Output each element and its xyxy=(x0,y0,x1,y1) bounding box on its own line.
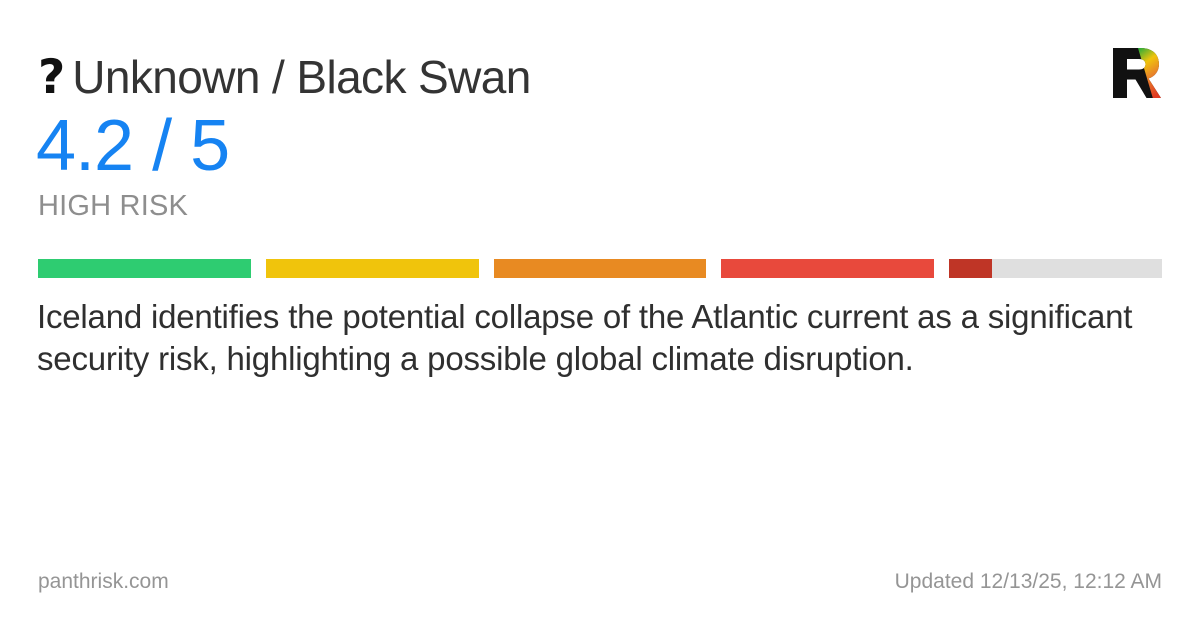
meter-segment-4 xyxy=(721,259,934,278)
title-line: ? Unknown / Black Swan xyxy=(38,46,1162,108)
risk-description: Iceland identifies the potential collaps… xyxy=(37,296,1147,380)
meter-segment-2 xyxy=(266,259,479,278)
meter-segment-fill xyxy=(494,259,707,278)
risk-level-label: HIGH RISK xyxy=(38,192,188,221)
page-title: Unknown / Black Swan xyxy=(72,53,530,101)
meter-segment-fill xyxy=(721,259,934,278)
meter-segment-1 xyxy=(38,259,251,278)
question-mark-icon: ? xyxy=(38,54,64,101)
logo-r-glyph xyxy=(1108,44,1164,102)
meter-segment-5 xyxy=(949,259,1162,278)
meter-segment-3 xyxy=(494,259,707,278)
meter-segment-fill xyxy=(949,259,992,278)
site-domain: panthrisk.com xyxy=(38,571,169,592)
meter-segment-fill xyxy=(38,259,251,278)
risk-card: ? Unknown / Black Swan xyxy=(0,0,1200,630)
risk-meter xyxy=(38,259,1162,278)
card-footer: panthrisk.com Updated 12/13/25, 12:12 AM xyxy=(38,568,1162,594)
panthrisk-r-logo xyxy=(1108,44,1164,102)
updated-timestamp: Updated 12/13/25, 12:12 AM xyxy=(895,571,1162,592)
meter-segment-fill xyxy=(266,259,479,278)
risk-score: 4.2 / 5 xyxy=(36,110,229,182)
